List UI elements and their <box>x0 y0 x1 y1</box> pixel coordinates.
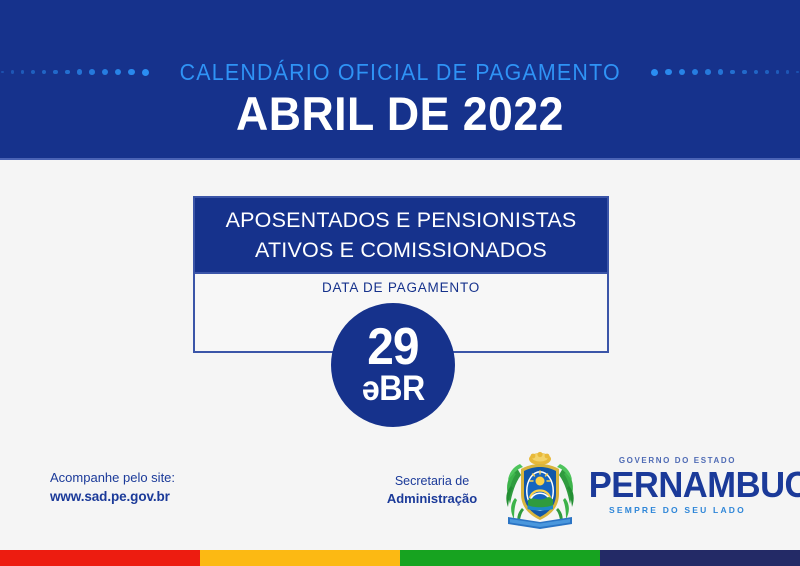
secretaria-line-2: Administração <box>378 490 486 507</box>
audience-line-2: ATIVOS E COMISSIONADOS <box>255 235 547 265</box>
secretaria-line-1: Secretaria de <box>378 473 486 490</box>
dotted-rule-right <box>651 67 800 77</box>
color-bar-segment-4 <box>600 550 800 566</box>
government-wordmark: GOVERNO DO ESTADO PERNAMBUCO SEMPRE DO S… <box>585 455 770 516</box>
payment-date-label: DATA DE PAGAMENTO <box>195 280 607 295</box>
gov-name: PERNAMBUCO <box>589 466 767 504</box>
card-audience-band: APOSENTADOS E PENSIONISTAS ATIVOS E COMI… <box>195 198 607 274</box>
website-label: Acompanhe pelo site: <box>50 468 175 487</box>
payment-calendar-poster: CALENDÁRIO OFICIAL DE PAGAMENTO ABRIL DE… <box>0 0 800 566</box>
payment-month: əBR <box>361 372 424 406</box>
secretaria-block: Secretaria de Administração <box>378 473 486 507</box>
dotted-rule-left <box>0 67 149 77</box>
audience-line-1: APOSENTADOS E PENSIONISTAS <box>226 205 577 235</box>
color-bar-segment-2 <box>200 550 400 566</box>
website-block: Acompanhe pelo site: www.sad.pe.gov.br <box>50 468 175 507</box>
payment-day: 29 <box>367 325 418 370</box>
color-bar-segment-3 <box>400 550 600 566</box>
gov-slogan: SEMPRE DO SEU LADO <box>585 504 770 516</box>
brasao-pernambuco-icon <box>503 450 577 530</box>
header-banner: CALENDÁRIO OFICIAL DE PAGAMENTO ABRIL DE… <box>0 0 800 160</box>
footer-color-bar <box>0 550 800 566</box>
header-kicker: CALENDÁRIO OFICIAL DE PAGAMENTO <box>166 59 633 86</box>
page-title: ABRIL DE 2022 <box>20 88 780 140</box>
color-bar-segment-1 <box>0 550 200 566</box>
header-kicker-row: CALENDÁRIO OFICIAL DE PAGAMENTO <box>0 58 800 86</box>
payment-date-badge: 29 əBR <box>331 303 455 427</box>
website-url[interactable]: www.sad.pe.gov.br <box>50 487 175 507</box>
